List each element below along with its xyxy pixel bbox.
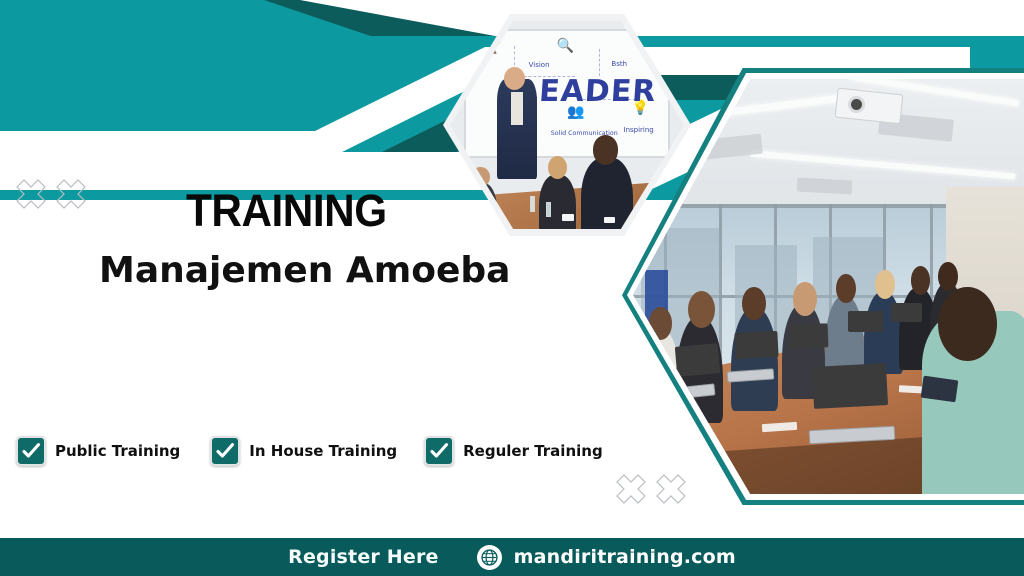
attendee-head xyxy=(793,282,816,315)
option-in-house-training[interactable]: In House Training xyxy=(210,436,397,466)
attendee-head xyxy=(875,270,895,299)
option-label-reguler-training: Reguler Training xyxy=(463,442,603,460)
seated-attendee-head xyxy=(593,135,619,164)
coffee-cup xyxy=(562,214,574,221)
laptop-screen xyxy=(734,331,778,359)
register-here-label[interactable]: Register Here xyxy=(288,546,439,568)
option-label-in-house-training: In House Training xyxy=(249,442,397,460)
seated-attendee-head xyxy=(548,156,567,179)
laptop-screen xyxy=(789,323,829,348)
leader-whiteboard-photo: 🏆 🔍 👥 💡 Vision Bsth Solid Communication … xyxy=(450,21,684,229)
laptop-screen xyxy=(891,303,922,322)
projector-lens xyxy=(848,96,865,113)
training-options-row: Public Training In House Training Regule… xyxy=(16,436,603,466)
presenter-shirt xyxy=(511,92,523,125)
water-glass xyxy=(546,202,551,217)
attendee-head xyxy=(688,291,715,328)
checkbox-reguler-training[interactable] xyxy=(424,436,454,466)
globe-icon xyxy=(477,545,502,570)
laptop-screen xyxy=(848,311,883,332)
whiteboard-connector xyxy=(599,49,600,76)
checkbox-public-training[interactable] xyxy=(16,436,46,466)
attendee-head xyxy=(742,287,765,320)
presenter-head xyxy=(504,67,525,90)
seated-attendee xyxy=(539,175,576,229)
checkbox-in-house-training[interactable] xyxy=(210,436,240,466)
option-label-public-training: Public Training xyxy=(55,442,180,460)
ceiling-panel xyxy=(797,177,852,194)
check-icon xyxy=(429,441,449,461)
decor-x-marks-left xyxy=(12,178,92,226)
footer-bar: Register Here mandiritraining.com xyxy=(0,538,1024,576)
whiteboard-title: LEADER xyxy=(517,74,657,109)
decor-x-marks-bottom xyxy=(612,473,692,521)
page-subtitle: Manajemen Amoeba xyxy=(99,253,510,289)
website-url[interactable]: mandiritraining.com xyxy=(514,546,736,568)
laptop-screen xyxy=(675,343,720,377)
coffee-cup xyxy=(604,217,615,223)
attendee-head xyxy=(938,262,958,291)
tablet xyxy=(921,375,959,402)
seated-attendee xyxy=(464,183,497,229)
water-glass xyxy=(530,196,535,212)
foreground-attendee-head xyxy=(938,287,997,362)
check-icon xyxy=(215,441,235,461)
option-reguler-training[interactable]: Reguler Training xyxy=(424,436,603,466)
center-laptop-screen xyxy=(812,363,888,409)
whiteboard-label: Vision xyxy=(529,61,550,69)
training-promo-banner: 🏆 🔍 👥 💡 Vision Bsth Solid Communication … xyxy=(0,0,1024,576)
check-icon xyxy=(21,441,41,461)
magnifier-icon: 🔍 xyxy=(557,38,574,52)
leader-whiteboard-hexagon: 🏆 🔍 👥 💡 Vision Bsth Solid Communication … xyxy=(443,14,691,236)
whiteboard-label: Inspiring xyxy=(624,126,654,134)
whiteboard-label: Bsth xyxy=(611,60,627,68)
attendee xyxy=(731,307,778,411)
conference-room-photo xyxy=(633,79,1024,494)
attendee-head xyxy=(911,266,931,295)
option-public-training[interactable]: Public Training xyxy=(16,436,180,466)
page-title: TRAINING xyxy=(186,188,387,233)
attendee-head xyxy=(836,274,856,303)
